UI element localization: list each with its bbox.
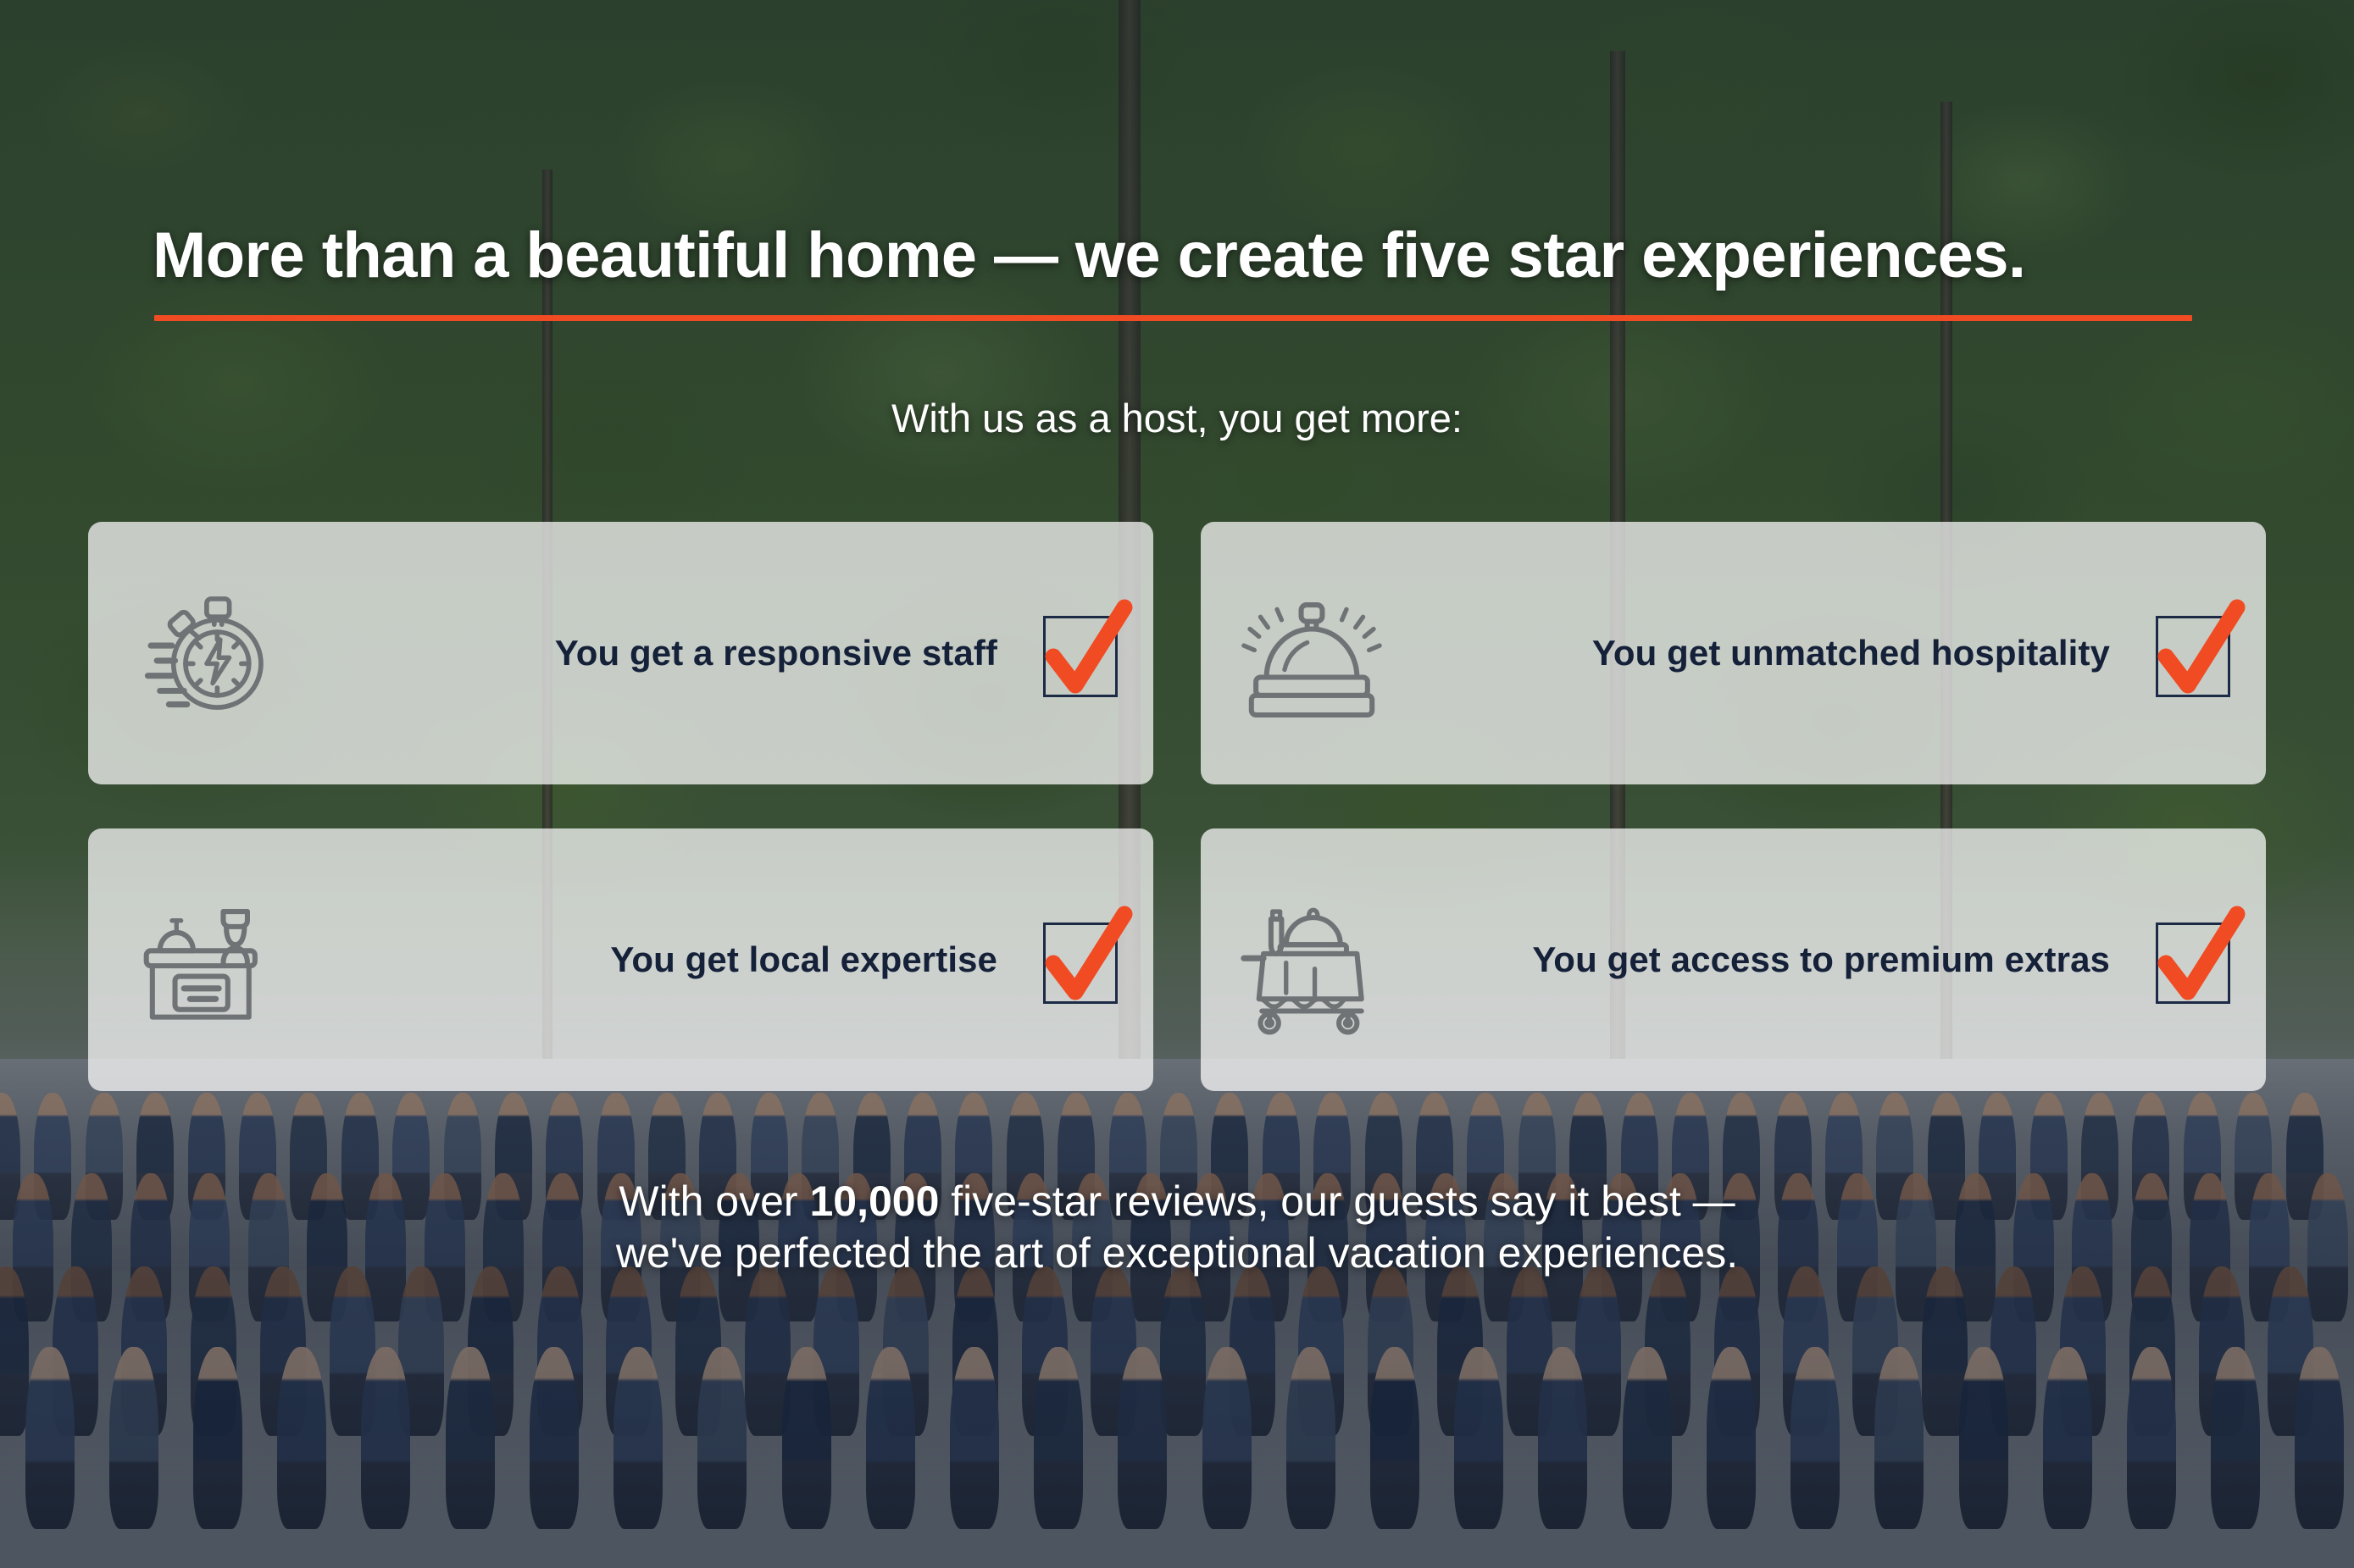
benefit-card-unmatched-hospitality[interactable]: You get unmatched hospitality — [1201, 522, 2266, 784]
benefit-card-local-expertise[interactable]: You get local expertise — [88, 828, 1153, 1091]
room-service-cart-icon — [1236, 884, 1387, 1035]
reviews-footnote: With over 10,000 five-star reviews, our … — [0, 1176, 2354, 1279]
benefit-label: You get local expertise — [275, 939, 1043, 980]
title-underline — [154, 315, 2192, 321]
benefits-grid: You get a responsive staff — [88, 522, 2266, 1091]
benefit-checkbox[interactable] — [2156, 916, 2235, 1004]
benefit-label: You get access to premium extras — [1387, 939, 2156, 980]
check-icon — [1040, 909, 1135, 1014]
stopwatch-lightning-icon — [124, 578, 275, 729]
benefit-label: You get unmatched hospitality — [1387, 633, 2156, 673]
check-icon — [2152, 909, 2247, 1014]
check-icon — [2152, 602, 2247, 707]
benefit-checkbox[interactable] — [1043, 609, 1123, 697]
benefit-card-responsive-staff[interactable]: You get a responsive staff — [88, 522, 1153, 784]
service-bell-icon — [1236, 578, 1387, 729]
footnote-line1-after: five-star reviews, our guests say it bes… — [939, 1177, 1735, 1225]
benefit-checkbox[interactable] — [2156, 609, 2235, 697]
page-title: More than a beautiful home — we create f… — [153, 219, 2195, 292]
footnote-line2: we've perfected the art of exceptional v… — [616, 1229, 1738, 1277]
benefit-card-premium-extras[interactable]: You get access to premium extras — [1201, 828, 2266, 1091]
subtitle: With us as a host, you get more: — [0, 395, 2354, 441]
hero-section: More than a beautiful home — we create f… — [0, 0, 2354, 1568]
benefit-checkbox[interactable] — [1043, 916, 1123, 1004]
concierge-desk-icon — [124, 884, 275, 1035]
footnote-line1-before: With over — [619, 1177, 809, 1225]
footnote-review-count: 10,000 — [809, 1177, 939, 1225]
check-icon — [1040, 602, 1135, 707]
benefit-label: You get a responsive staff — [275, 633, 1043, 673]
